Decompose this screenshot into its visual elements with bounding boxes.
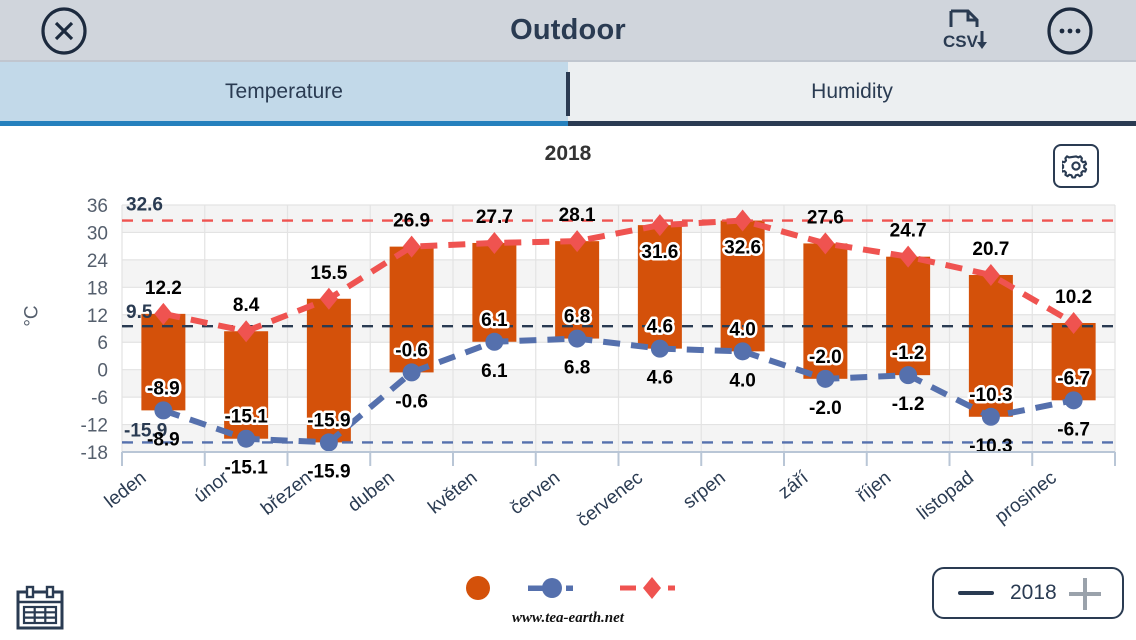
legend-min-icon [528, 578, 573, 598]
max-value-label: 20.7 [972, 239, 1009, 260]
max-value-label: 15.5 [310, 263, 347, 284]
min-marker[interactable] [982, 408, 1000, 426]
min-value-label-inner: 6.1 [481, 310, 508, 331]
svg-text:CSV: CSV [943, 32, 979, 51]
min-marker[interactable] [237, 430, 255, 448]
chart-settings-button[interactable] [1053, 144, 1099, 188]
y-axis-tick-label: 24 [87, 251, 109, 272]
min-value-label-outer: -1.2 [892, 394, 925, 415]
y-axis-tick-label: 6 [97, 333, 108, 354]
min-value-label-outer: 4.6 [647, 368, 673, 389]
min-value-label-outer: -15.9 [307, 461, 350, 482]
y-axis-tick-label: 0 [97, 361, 108, 382]
x-axis-label: listopad [913, 467, 978, 524]
chart-title: 2018 [0, 142, 1136, 166]
min-value-label-inner: -0.6 [395, 340, 428, 361]
min-value-label-outer: 6.1 [481, 361, 508, 382]
y-axis-tick-label: 12 [87, 306, 108, 327]
y-axis-tick-label: -18 [81, 443, 108, 464]
min-marker[interactable] [320, 433, 338, 451]
tab-temperature-label: Temperature [225, 80, 343, 104]
min-marker[interactable] [485, 333, 503, 351]
min-value-label-inner: -8.9 [147, 378, 180, 399]
min-value-label-outer: -0.6 [395, 391, 428, 412]
max-value-label: 26.9 [393, 211, 430, 232]
x-axis-label: červen [506, 467, 564, 519]
x-axis-label: duben [344, 467, 399, 516]
min-value-label-inner: -15.9 [307, 410, 350, 431]
min-value-label-outer: -10.3 [969, 436, 1012, 457]
min-value-label-inner: -1.2 [892, 343, 925, 364]
max-value-label: 27.6 [807, 207, 844, 228]
min-marker[interactable] [899, 366, 917, 384]
legend-max-icon [620, 577, 675, 599]
title-bar: Outdoor CSV [0, 0, 1136, 62]
min-marker[interactable] [816, 370, 834, 388]
y-axis-tick-label: -6 [91, 388, 108, 409]
min-marker[interactable] [403, 363, 421, 381]
tab-separator [566, 72, 570, 116]
max-value-label: 24.7 [890, 221, 927, 242]
chart-plot-area: 363024181260-6-12-1832.69.5-15.912.28.41… [0, 195, 1136, 555]
max-value-label: 27.7 [476, 207, 513, 228]
min-value-label-outer: -6.7 [1057, 419, 1090, 440]
min-value-label-inner: -6.7 [1057, 368, 1090, 389]
y-axis-tick-label: 36 [87, 196, 108, 217]
min-marker[interactable] [734, 342, 752, 360]
y-axis-title: °C [22, 305, 44, 326]
reference-label-year-max: 32.6 [126, 195, 163, 216]
min-value-label-outer: -15.1 [224, 458, 268, 479]
y-axis-tick-label: -12 [81, 416, 108, 437]
min-value-label-inner: 6.8 [564, 307, 590, 328]
x-axis-label: září [775, 467, 813, 503]
chart-legend [440, 572, 700, 604]
add-year-button[interactable] [1066, 575, 1104, 613]
reference-label-year-mean: 9.5 [126, 302, 153, 323]
app-root: Outdoor CSV Temperature [0, 0, 1136, 640]
min-value-label-inner: 4.6 [647, 317, 673, 338]
min-value-label-outer: -2.0 [809, 398, 842, 419]
more-options-button[interactable] [1046, 7, 1094, 55]
tab-humidity-label: Humidity [811, 80, 893, 104]
gear-icon [1062, 152, 1090, 180]
year-selector[interactable]: 2018 [932, 567, 1124, 619]
min-marker[interactable] [651, 340, 669, 358]
y-axis-tick-label: 30 [87, 223, 108, 244]
min-marker[interactable] [568, 330, 586, 348]
max-value-label: 28.1 [559, 205, 596, 226]
min-value-label-inner: -2.0 [809, 347, 842, 368]
min-marker[interactable] [1065, 391, 1083, 409]
min-value-label-outer: -8.9 [147, 429, 180, 450]
plus-icon [1066, 575, 1104, 613]
csv-download-icon: CSV [937, 7, 993, 55]
y-axis-tick-label: 18 [87, 278, 108, 299]
max-value-label: 31.6 [641, 242, 678, 263]
calendar-button[interactable] [14, 585, 66, 631]
calendar-icon [14, 585, 66, 631]
max-value-label: 10.2 [1055, 287, 1092, 308]
tab-humidity[interactable]: Humidity [568, 62, 1136, 126]
x-axis-label: červenec [573, 467, 647, 531]
legend-range-icon [466, 576, 490, 600]
max-value-label: 32.6 [724, 238, 761, 259]
year-label: 2018 [1010, 581, 1057, 605]
x-axis-label: prosinec [991, 467, 1061, 528]
x-axis-label: leden [101, 467, 151, 512]
min-value-label-inner: 4.0 [729, 319, 755, 340]
temperature-range-chart: 363024181260-6-12-1832.69.5-15.912.28.41… [0, 195, 1136, 555]
tab-bar: Temperature Humidity [0, 62, 1136, 126]
x-axis-label: srpen [679, 467, 729, 513]
min-value-label-outer: 4.0 [729, 370, 755, 391]
min-value-label-inner: -15.1 [224, 407, 268, 428]
csv-download-button[interactable]: CSV [937, 7, 993, 55]
max-value-label: 12.2 [145, 278, 182, 299]
x-axis-label: květen [424, 467, 481, 518]
min-value-label-inner: -10.3 [969, 385, 1012, 406]
x-axis-label: říjen [853, 467, 895, 506]
max-value-label: 8.4 [233, 295, 260, 316]
min-value-label-outer: 6.8 [564, 358, 590, 379]
more-options-icon [1046, 7, 1094, 55]
min-marker[interactable] [154, 401, 172, 419]
year-line-swatch [958, 591, 994, 595]
tab-temperature[interactable]: Temperature [0, 62, 568, 126]
